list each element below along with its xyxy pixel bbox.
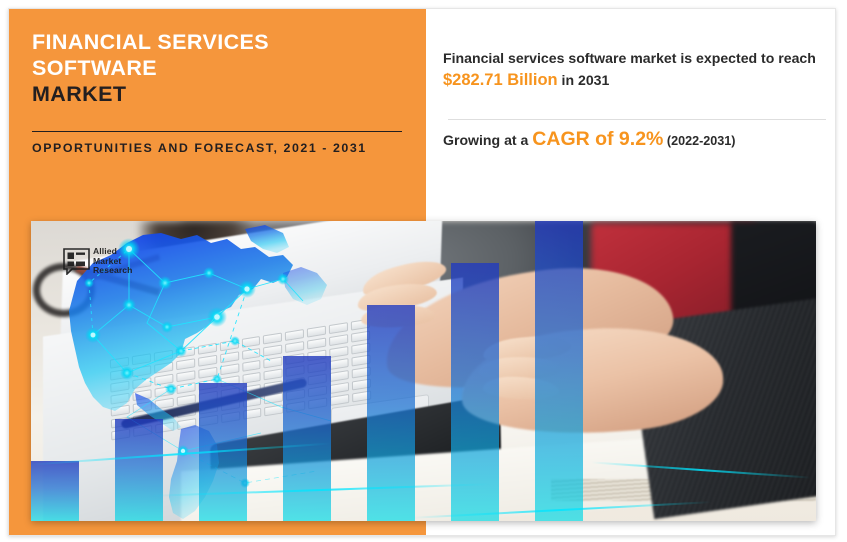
infographic-card: FINANCIAL SERVICES SOFTWARE MARKET OPPOR… [8,8,836,536]
stat-cagr-value: CAGR of 9.2% [532,128,663,150]
page-title: FINANCIAL SERVICES SOFTWARE MARKET [32,29,404,107]
stat-market-size-value: $282.71 Billion [443,71,558,89]
allied-market-research-logo: Allied Market Research [63,247,133,276]
stat-cagr-prefix: Growing at a [443,132,532,148]
logo-line-3: Research [93,266,133,276]
stat-cagr-period: (2022-2031) [663,134,735,148]
speech-bubble-icon [63,248,90,275]
page-title-line-3: MARKET [32,81,404,107]
stat-market-size: Financial services software market is ex… [443,47,828,91]
stat-cagr: Growing at a CAGR of 9.2% (2022-2031) [443,128,828,152]
stats-panel: Financial services software market is ex… [426,9,836,221]
page-subtitle: OPPORTUNITIES AND FORECAST, 2021 - 2031 [32,139,407,158]
page-title-line-1: FINANCIAL SERVICES [32,29,404,55]
stat-market-size-suffix: in 2031 [558,72,610,88]
page-title-line-2: SOFTWARE [32,55,404,81]
hero-photograph: Allied Market Research [31,221,816,521]
logo-wordmark: Allied Market Research [93,247,133,276]
stats-divider [448,119,826,120]
stat-market-size-prefix: Financial services software market is ex… [443,50,816,66]
title-divider [32,131,402,132]
